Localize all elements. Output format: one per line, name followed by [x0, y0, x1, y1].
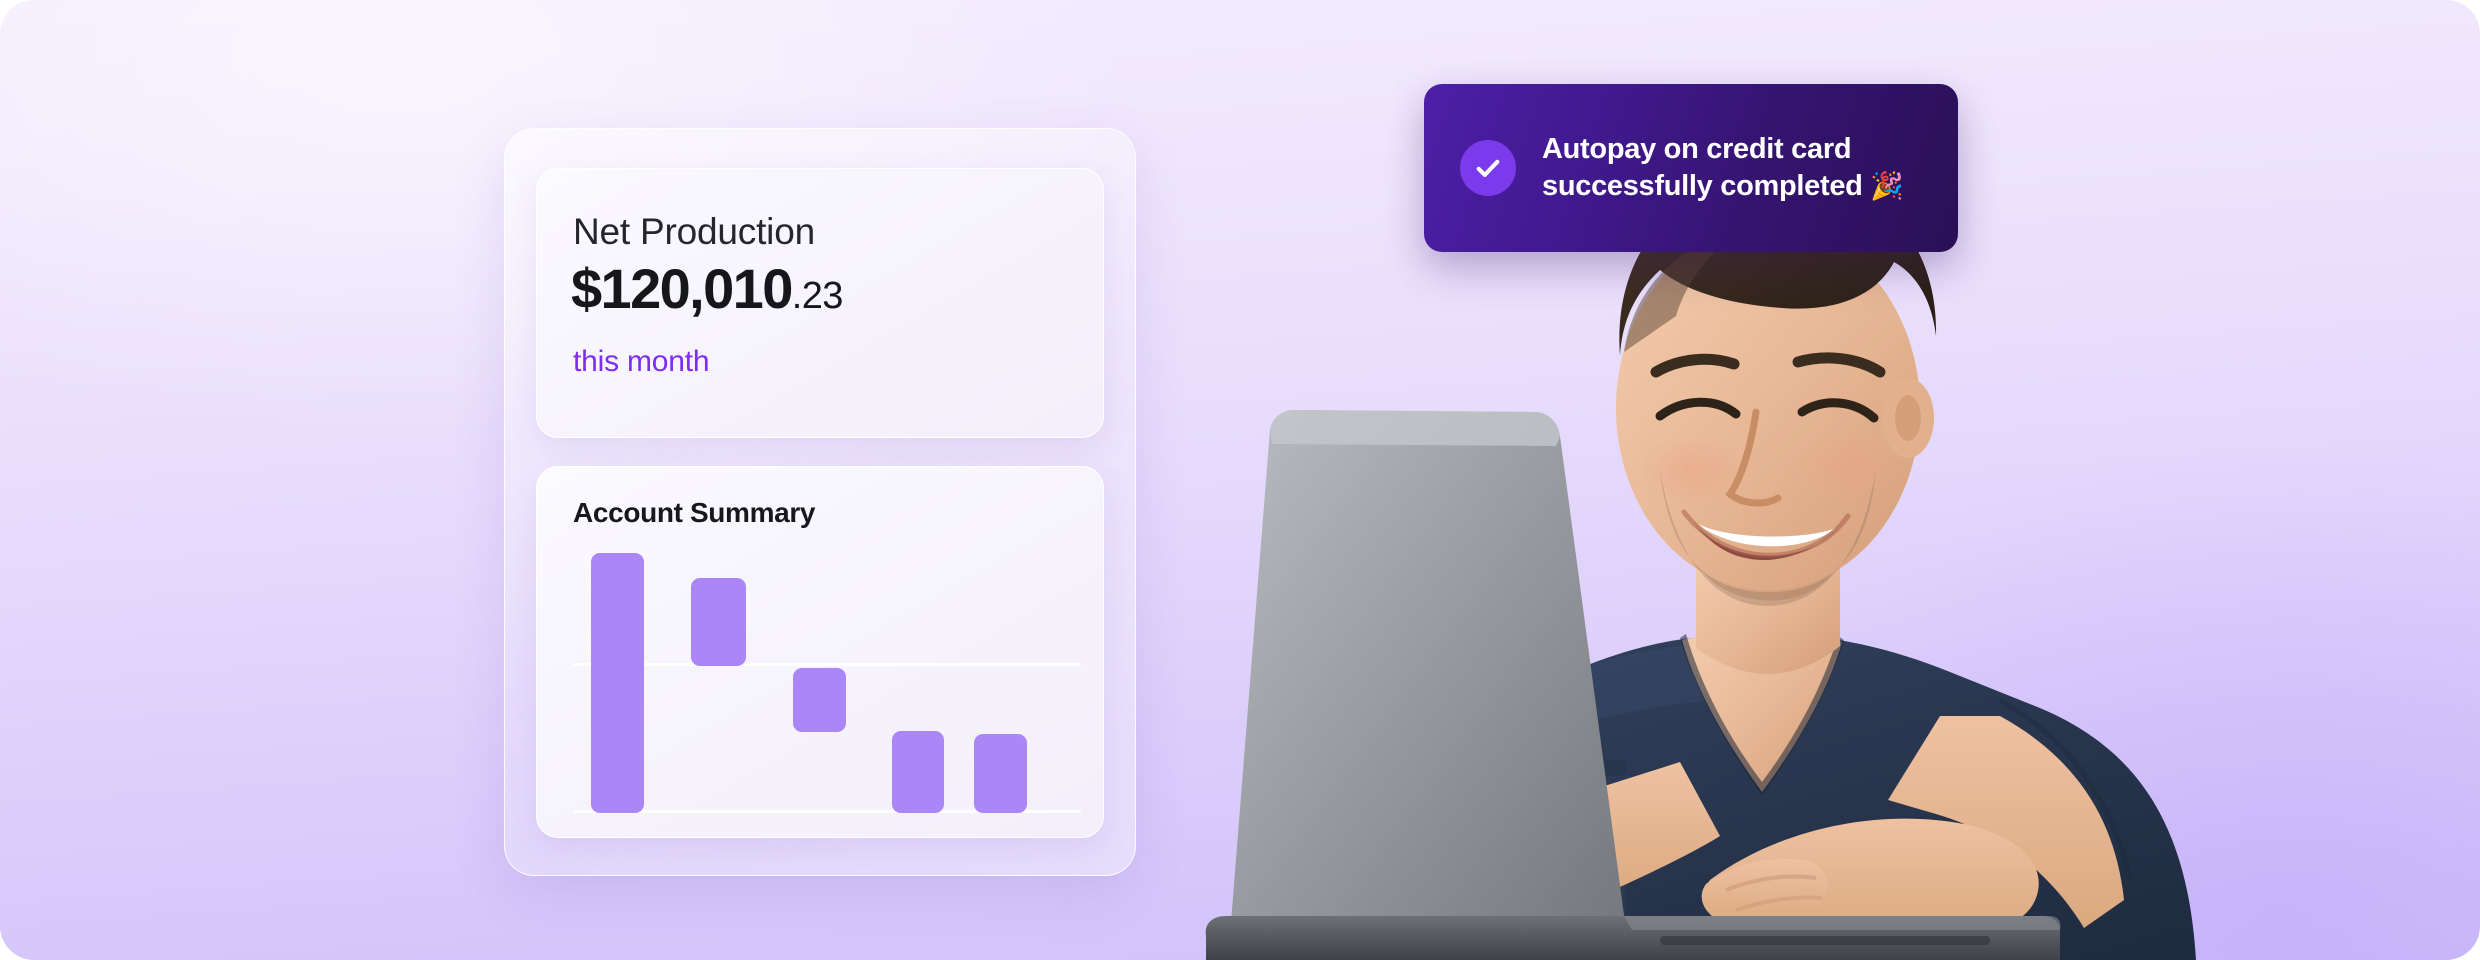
chart-bar[interactable]	[892, 731, 945, 813]
toast-message-line1: Autopay on credit card	[1542, 133, 1851, 165]
chart-bar[interactable]	[793, 668, 846, 732]
party-popper-icon: 🎉	[1870, 171, 1903, 201]
net-production-amount: $120,010.23	[571, 261, 843, 317]
chart-bar[interactable]	[591, 553, 644, 813]
net-production-card[interactable]: Net Production $120,010.23 this month	[536, 168, 1104, 438]
toast-message-line2: successfully completed	[1542, 170, 1863, 202]
check-circle-icon	[1460, 140, 1516, 196]
background-sheen	[0, 0, 2480, 960]
account-summary-card[interactable]: Account Summary	[536, 466, 1104, 838]
autopay-success-toast[interactable]: Autopay on credit card successfully comp…	[1424, 84, 1958, 252]
toast-message: Autopay on credit card successfully comp…	[1542, 131, 1904, 204]
amount-cents: .23	[792, 275, 843, 317]
net-production-period: this month	[573, 345, 709, 379]
hero-banner: Net Production $120,010.23 this month Ac…	[0, 0, 2480, 960]
account-summary-title: Account Summary	[573, 497, 815, 529]
amount-whole: $120,010	[571, 257, 792, 320]
net-production-label: Net Production	[573, 211, 815, 253]
account-summary-bar-chart[interactable]	[573, 553, 1081, 813]
chart-gridline-mid	[573, 663, 1081, 666]
chart-bar[interactable]	[974, 734, 1027, 813]
chart-bar[interactable]	[691, 578, 746, 666]
